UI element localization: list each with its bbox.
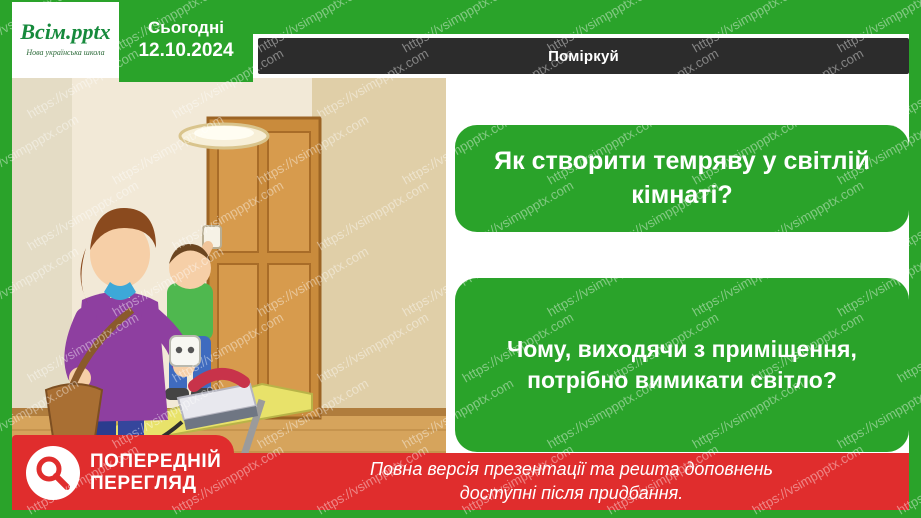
date-value: 12.10.2024 [138,39,233,64]
magnifier-icon [26,446,80,500]
logo-main-text: Всім.pptx [20,21,110,43]
page-title: Поміркуй [548,48,619,65]
power-socket [170,336,200,366]
slide-title-bar: Поміркуй [258,38,909,74]
date-badge: Сьогодні 12.10.2024 [119,0,253,82]
question-block-1: Як створити темряву у світлій кімнаті? [455,125,909,232]
banner-line-2: доступні після придбання. [460,482,683,505]
purchase-banner: Повна версія презентації та решта доповн… [234,453,909,510]
frame-bottom [0,510,921,518]
question-block-2: Чому, виходячи з приміщення, потрібно ви… [455,278,909,452]
preview-badge: ПОПЕРЕДНІЙ ПЕРЕГЛЯД [12,435,234,510]
preview-line-1: ПОПЕРЕДНІЙ [90,451,221,472]
banner-line-1: Повна версія презентації та решта доповн… [370,458,773,481]
preview-line-2: ПЕРЕГЛЯД [90,473,221,494]
date-label: Сьогодні [148,18,224,38]
slide-root: Поміркуй Всім.pptx Нова українська школа… [0,0,921,518]
logo: Всім.pptx Нова українська школа [12,2,119,76]
frame-left [0,0,12,518]
logo-sub-text: Нова українська школа [26,48,104,57]
question-2-text: Чому, виходячи з приміщення, потрібно ви… [473,334,891,396]
frame-right [909,0,921,518]
question-1-text: Як створити темряву у світлій кімнаті? [473,145,891,213]
preview-badge-text: ПОПЕРЕДНІЙ ПЕРЕГЛЯД [90,451,221,494]
